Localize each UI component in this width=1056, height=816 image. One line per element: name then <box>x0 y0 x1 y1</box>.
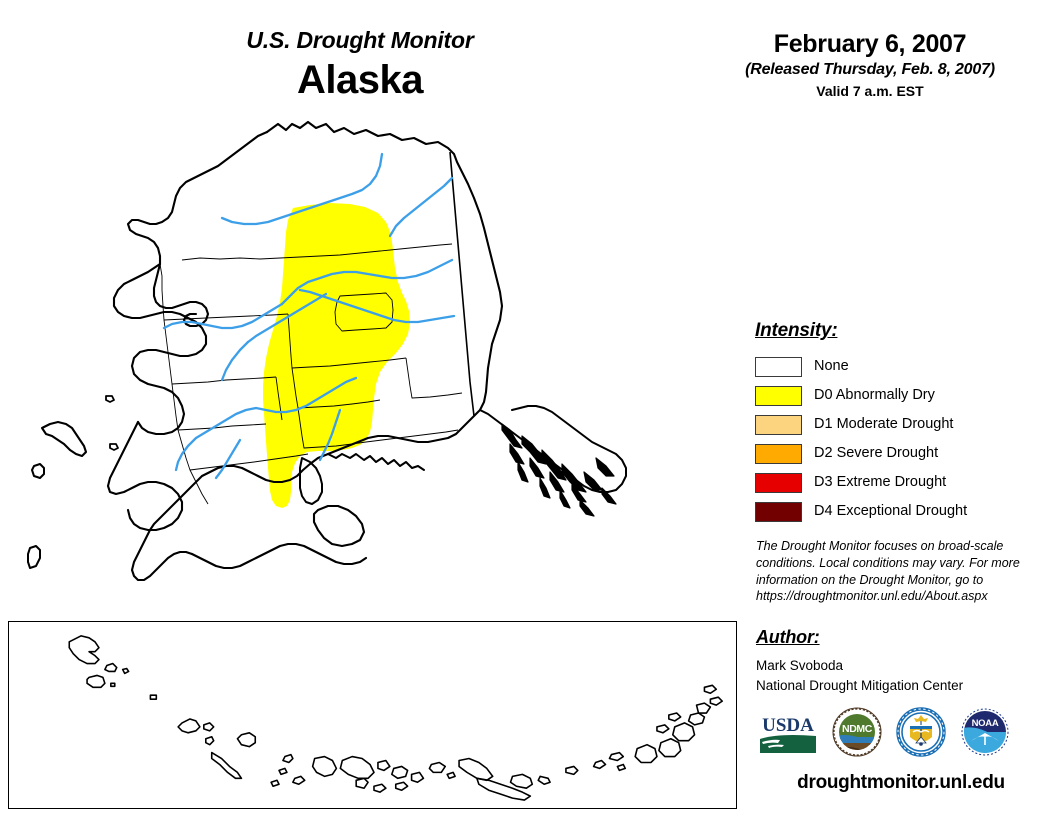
title-block: U.S. Drought Monitor Alaska <box>150 28 570 103</box>
alaska-west-coast-outline <box>128 132 267 326</box>
andreanof-islet-6 <box>374 784 386 792</box>
pribilof-island <box>566 766 578 774</box>
great-sitkin <box>356 778 368 788</box>
kenai-peninsula-outline <box>300 458 322 504</box>
region-title: Alaska <box>150 57 570 103</box>
swatch-d2 <box>755 444 802 464</box>
yukon-delta-outline <box>108 422 182 530</box>
disclaimer-text: The Drought Monitor focuses on broad-sca… <box>756 538 1036 605</box>
semisopochnoi-island <box>237 733 255 747</box>
agattu-island <box>105 664 117 672</box>
andreanof-islet-2 <box>279 768 287 774</box>
amchitka-island <box>212 753 242 779</box>
shumagin-island-2 <box>659 739 681 757</box>
unimak-island <box>511 774 533 788</box>
usda-logo-text: USDA <box>762 715 814 736</box>
small-island-outline-1 <box>32 464 44 478</box>
shumagin-islet-5 <box>697 703 711 713</box>
andreanof-islet-3 <box>271 780 279 786</box>
shumagin-island-1 <box>635 745 657 763</box>
seward-peninsula-outline <box>114 264 206 434</box>
intensity-legend: Intensity: None D0 Abnormally Dry D1 Mod… <box>755 320 1045 526</box>
author-affiliation: National Drought Mitigation Center <box>756 677 1046 695</box>
legend-row-d2[interactable]: D2 Severe Drought <box>755 439 1045 468</box>
kuskokwim-river-lower <box>176 408 256 470</box>
legend-label-none: None <box>814 359 849 374</box>
umnak-island <box>459 759 493 781</box>
attu-island <box>69 636 99 664</box>
near-islet-1 <box>123 669 129 674</box>
swatch-d1 <box>755 415 802 435</box>
usdc-seal-logo[interactable] <box>896 707 946 757</box>
noaa-logo[interactable]: NOAA <box>959 707 1011 757</box>
chagulak-islet <box>447 772 455 778</box>
valid-date: February 6, 2007 <box>700 30 1040 58</box>
seguam-island <box>392 766 408 778</box>
disclaimer-line-3: information on the Drought Monitor, go t… <box>756 572 1036 589</box>
d0-region-fill <box>263 203 410 508</box>
fox-islet-1 <box>538 776 550 784</box>
unalaska-island <box>477 778 530 800</box>
legend-row-none[interactable]: None <box>755 352 1045 381</box>
author-name: Mark Svoboda <box>756 657 1046 675</box>
legend-label-d4: D4 Exceptional Drought <box>814 504 967 519</box>
drought-monitor-page: U.S. Drought Monitor Alaska February 6, … <box>0 0 1056 816</box>
eastern-islet-1 <box>657 725 669 733</box>
shumagin-islet-4 <box>689 713 705 725</box>
noaa-logo-text: NOAA <box>972 718 999 729</box>
little-kiska <box>204 723 214 731</box>
porcupine-river <box>390 178 452 236</box>
lake-peninsula-boundary <box>178 430 268 470</box>
disclaimer-url[interactable]: https://droughtmonitor.unl.edu/About.asp… <box>756 588 1036 605</box>
small-island-outline-2 <box>28 546 40 568</box>
logo-row: USDA NDMC <box>758 706 1048 758</box>
legend-label-d3: D3 Extreme Drought <box>814 475 946 490</box>
semichi-island <box>87 675 105 687</box>
swatch-d0 <box>755 386 802 406</box>
prince-william-sound-outline <box>328 454 424 470</box>
aleutian-islands-inset[interactable] <box>8 621 737 809</box>
aleutian-island-shapes <box>69 636 722 800</box>
andreanof-islet-5 <box>378 761 390 771</box>
st-lawrence-island-outline <box>42 422 86 456</box>
shumagin-islet-6 <box>710 697 722 705</box>
legend-title: Intensity: <box>755 320 1045 342</box>
valid-time: Valid 7 a.m. EST <box>700 83 1040 99</box>
innoko-river <box>222 342 248 380</box>
release-date: (Released Thursday, Feb. 8, 2007) <box>700 61 1040 79</box>
kodiak-island-outline <box>314 506 364 546</box>
legend-label-d1: D1 Moderate Drought <box>814 417 953 432</box>
legend-row-d0[interactable]: D0 Abnormally Dry <box>755 381 1045 410</box>
amukta-island <box>412 772 424 782</box>
near-islet-2 <box>111 683 115 686</box>
rat-islet-1 <box>206 737 214 745</box>
footer-url[interactable]: droughtmonitor.unl.edu <box>756 772 1046 794</box>
small-islet-right-3 <box>617 764 625 770</box>
disclaimer-line-2: conditions. Local conditions may vary. F… <box>756 555 1036 572</box>
andreanof-islet-4 <box>293 776 305 784</box>
adak-island <box>313 757 337 777</box>
aleutian-islands-map <box>9 622 736 808</box>
nushagak-river <box>216 440 240 478</box>
swatch-d4 <box>755 502 802 522</box>
legend-label-d0: D0 Abnormally Dry <box>814 388 935 403</box>
swatch-none <box>755 357 802 377</box>
legend-row-d4[interactable]: D4 Exceptional Drought <box>755 497 1045 526</box>
date-block: February 6, 2007 (Released Thursday, Feb… <box>700 30 1040 99</box>
ndmc-logo[interactable]: NDMC <box>831 707 883 757</box>
eastern-islet-3 <box>704 685 716 693</box>
alaska-peninsula-outline <box>192 544 366 568</box>
small-islet-right-1 <box>594 761 606 769</box>
ndmc-logo-text: NDMC <box>842 723 873 735</box>
map-layers <box>28 122 626 580</box>
southeast-fairbanks-boundary <box>406 358 462 398</box>
author-title: Author: <box>756 627 1046 648</box>
page-title: U.S. Drought Monitor <box>150 28 570 53</box>
yunaska-island <box>429 762 445 772</box>
shumagin-island-3 <box>673 723 695 741</box>
author-block: Author: Mark Svoboda National Drought Mi… <box>756 627 1046 694</box>
swatch-d3 <box>755 473 802 493</box>
disclaimer-line-1: The Drought Monitor focuses on broad-sca… <box>756 538 1036 555</box>
buldir-island <box>150 695 156 699</box>
kiska-island <box>178 719 200 733</box>
andreanof-islet-1 <box>283 755 293 763</box>
small-island-outline-3 <box>106 396 114 402</box>
legend-row-d3[interactable]: D3 Extreme Drought <box>755 468 1045 497</box>
usda-logo[interactable]: USDA <box>758 709 818 755</box>
legend-row-d1[interactable]: D1 Moderate Drought <box>755 410 1045 439</box>
eastern-islet-2 <box>669 713 681 721</box>
atka-island <box>340 757 374 779</box>
small-islet-right-2 <box>609 753 623 761</box>
small-island-outline-4 <box>110 444 118 450</box>
andreanof-islet-7 <box>396 782 408 790</box>
bethel-boundary <box>164 320 276 384</box>
alaska-map[interactable] <box>10 110 740 615</box>
legend-label-d2: D2 Severe Drought <box>814 446 938 461</box>
